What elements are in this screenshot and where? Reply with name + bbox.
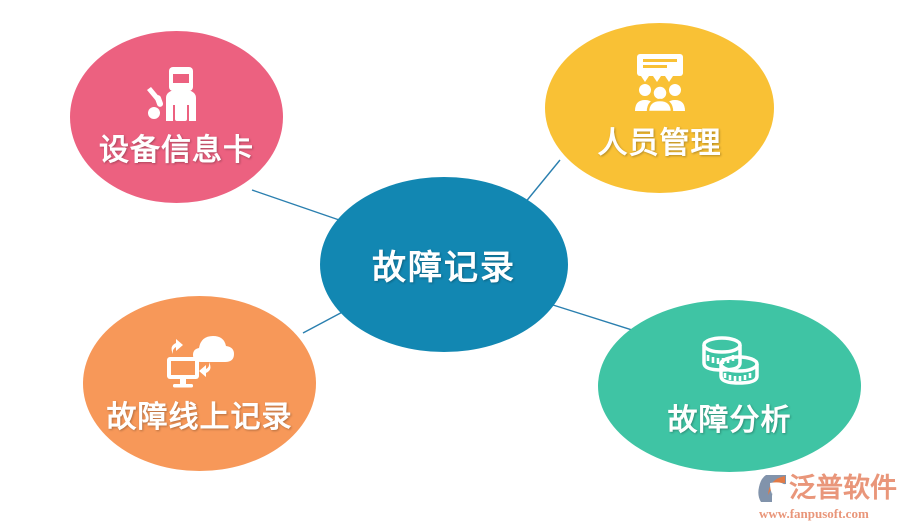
node-equipment-info-card[interactable]: 设备信息卡 [70, 31, 283, 203]
fanpu-logo-icon [757, 474, 787, 503]
node-online-fault-record[interactable]: 故障线上记录 [83, 296, 316, 471]
node-personnel-label: 人员管理 [598, 118, 722, 162]
welder-icon [144, 65, 210, 121]
connector-personnel-to-center [524, 160, 560, 204]
watermark-url: www.fanpusoft.com [759, 507, 869, 520]
cloud-sync-monitor-icon [165, 332, 235, 388]
node-personnel-management[interactable]: 人员管理 [545, 23, 774, 193]
watermark-brand-name: 泛普软件 [789, 475, 897, 502]
people-group-icon [629, 54, 691, 112]
node-online-label: 故障线上记录 [107, 392, 293, 436]
watermark-brand-row: 泛普软件 [757, 474, 897, 503]
node-analysis-label: 故障分析 [668, 395, 792, 439]
coins-stack-icon [695, 333, 765, 389]
node-center-label: 故障记录 [372, 240, 516, 289]
node-fault-analysis[interactable]: 故障分析 [598, 300, 861, 472]
connector-equipment-to-center [252, 190, 345, 222]
node-equipment-label: 设备信息卡 [99, 125, 254, 169]
node-center-fault-record[interactable]: 故障记录 [320, 177, 568, 352]
watermark-logo: 泛普软件 www.fanpusoft.com [757, 474, 897, 526]
diagram-canvas: 故障记录 设备信息卡 [0, 0, 899, 530]
